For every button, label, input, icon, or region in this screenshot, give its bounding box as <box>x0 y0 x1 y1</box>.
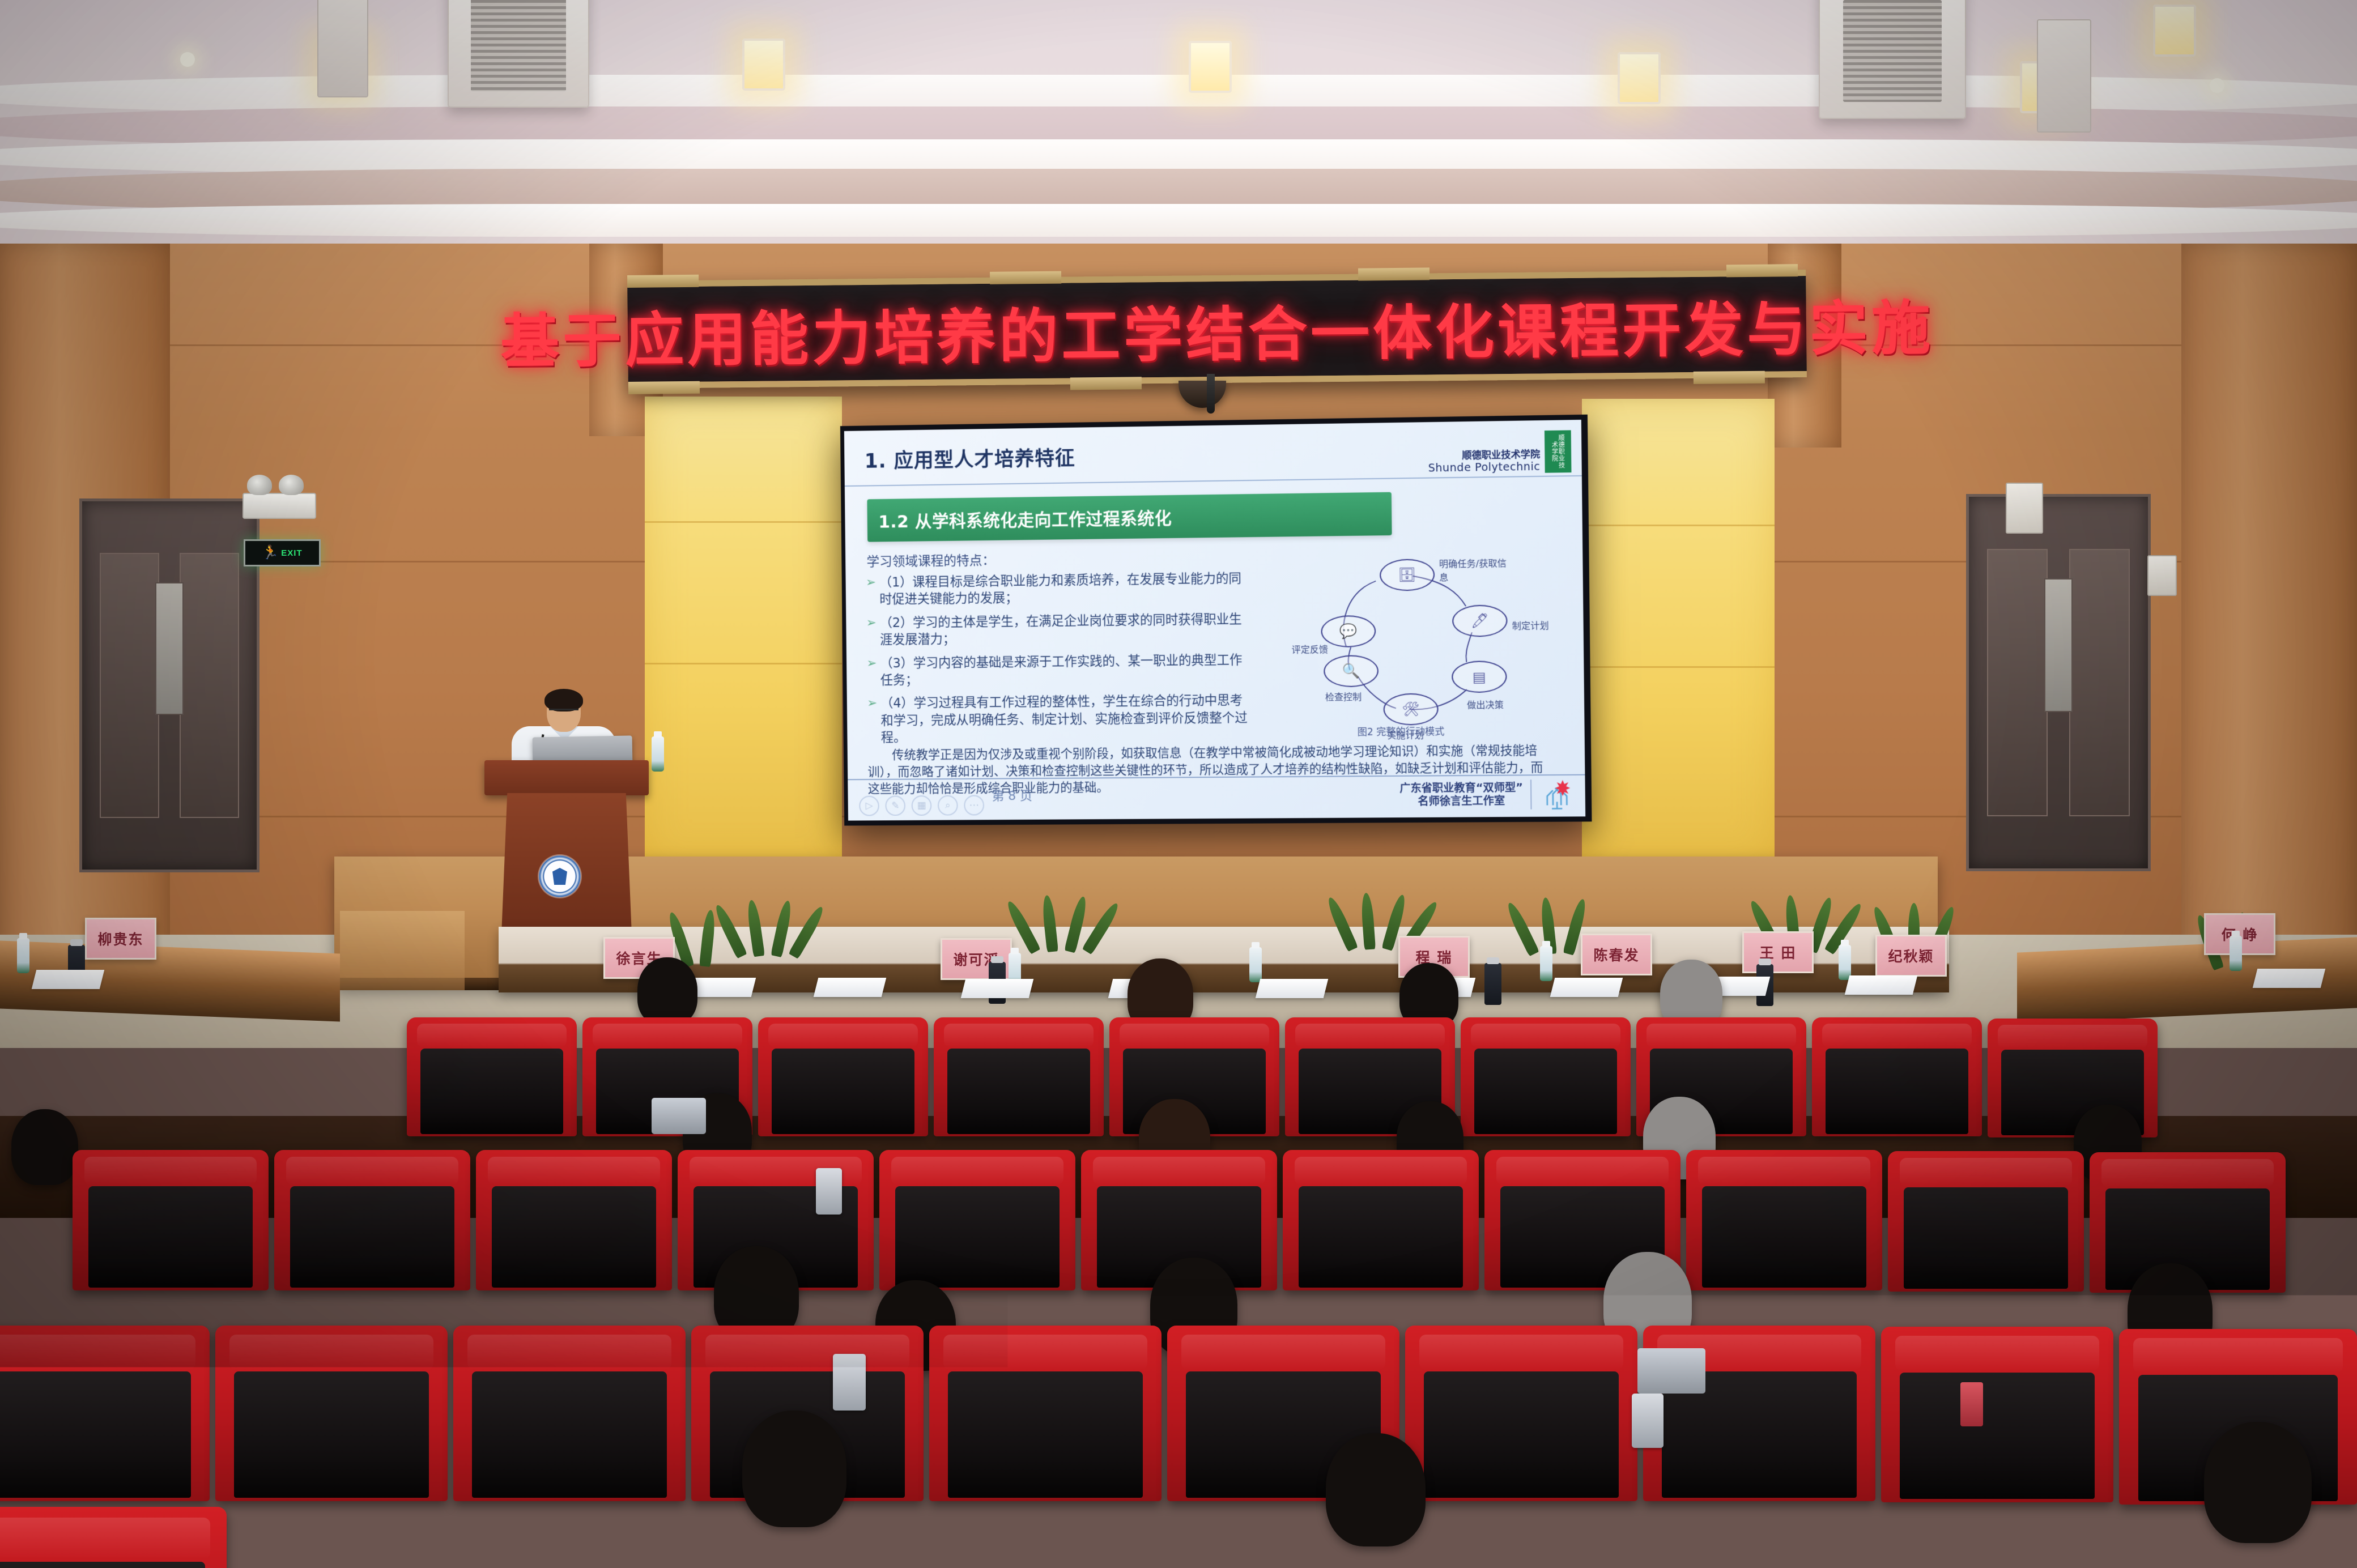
diagram-caption: 图2 完整的行动模式 <box>1358 723 1445 738</box>
auditorium-seat[interactable] <box>1745 1507 2017 1568</box>
ceiling <box>0 0 2357 266</box>
audience-head <box>637 957 697 1025</box>
institution-seal-mark: 顺德职业技术学院 <box>1545 430 1572 472</box>
action-cycle-diagram: 🗄 明确任务/获取信息 🖊 制定计划 ▤ 做出决策 🛠 实施计划 🔍 <box>1321 544 1569 735</box>
slide-header-divider <box>845 475 1582 487</box>
person-at-desk-icon: 🗄 <box>1398 566 1416 584</box>
ceiling-ac-unit <box>1819 0 1966 119</box>
travel-cup <box>1960 1382 1983 1426</box>
door-panel <box>180 553 239 818</box>
auditorium-seat[interactable] <box>510 1507 782 1568</box>
banner-mount-tab <box>1726 264 1798 277</box>
wall-control-box[interactable] <box>2006 483 2043 534</box>
auditorium-seat[interactable] <box>476 1150 672 1290</box>
ceiling-downlight <box>2210 78 2224 93</box>
auditorium-seat[interactable] <box>0 1326 210 1501</box>
bullet-text: （3）学习内容的基础是来源于工作实践的、某一职业的典型工作任务； <box>880 651 1254 689</box>
auditorium-seat[interactable] <box>1283 1150 1479 1290</box>
door-vision-panel <box>155 582 183 715</box>
exit-sign-label: EXIT <box>281 548 302 558</box>
banner-mount-tab <box>1694 371 1765 384</box>
nameplate: 柳贵东 <box>85 918 156 960</box>
bullet-arrow-icon: ➢ <box>866 615 877 649</box>
auditorium-seat[interactable] <box>0 1507 227 1568</box>
auditorium-seat[interactable] <box>407 1017 577 1136</box>
auditorium-seat[interactable] <box>1405 1326 1637 1501</box>
workshop-emblem <box>1539 777 1575 812</box>
wall-socket-plate[interactable] <box>2147 555 2177 596</box>
two-people-discussing-icon: 💬 <box>1339 623 1358 640</box>
auditorium-seat[interactable] <box>232 1507 504 1568</box>
door-vision-panel <box>2044 578 2073 712</box>
nameplate-text: 陈春发 <box>1593 944 1639 965</box>
section-heading-bar: 1.2 从学科系统化走向工作过程系统化 <box>867 492 1392 542</box>
banner-mount-tab <box>628 381 700 394</box>
presentation-slide: 1. 应用型人才培养特征 顺德职业技术学院 Shunde Polytechnic… <box>844 420 1585 821</box>
lectern-top <box>484 760 649 795</box>
speaker-glasses <box>549 709 578 715</box>
wall-pilaster <box>2181 244 2357 980</box>
bullet-text: （4）学习过程具有工作过程的整体性，学生在综合的行动中思考和学习，完成从明确任务… <box>880 692 1255 747</box>
led-banner: 基于应用能力培养的工学结合一体化课程开发与实施 <box>627 270 1807 389</box>
decorative-plant <box>1026 889 1111 952</box>
bullet-text: （2）学习的主体是学生，在满足企业岗位要求的同时获得职业生涯发展潜力； <box>880 611 1254 649</box>
person-working-icon: 🛠 <box>1402 701 1420 718</box>
door-panel <box>1987 549 2048 816</box>
zoom-icon[interactable]: ⌕ <box>938 795 958 816</box>
slide-page-number: 第 8 页 <box>992 786 1032 804</box>
footer-logo-divider <box>1530 779 1532 809</box>
hanging-microphone <box>1207 374 1215 414</box>
auditorium-seat[interactable] <box>788 1507 1060 1568</box>
recessed-ceiling-light <box>2153 5 2196 57</box>
person-at-whiteboard-icon: 🖊 <box>1471 612 1489 630</box>
footer-logo-line1: 广东省职业教育“双师型” <box>1399 782 1523 795</box>
bullet-item: ➢ （3）学习内容的基础是来源于工作实践的、某一职业的典型工作任务； <box>866 651 1254 689</box>
cycle-label-make-plan: 制定计划 <box>1512 618 1549 632</box>
water-bottle <box>652 736 664 772</box>
auditorium-seat[interactable] <box>215 1326 448 1501</box>
auditorium-seat[interactable] <box>879 1150 1075 1290</box>
ceiling-band-white-3 <box>0 204 2357 237</box>
pen-icon[interactable]: ✎ <box>885 795 905 816</box>
auditorium-seat[interactable] <box>1190 1507 1462 1568</box>
projection-screen: 1. 应用型人才培养特征 顺德职业技术学院 Shunde Polytechnic… <box>840 415 1592 826</box>
institution-name-cn: 顺德职业技术学院 <box>1428 449 1540 462</box>
nameplate-text: 柳贵东 <box>97 928 143 949</box>
audience-phone[interactable] <box>833 1354 866 1411</box>
bullet-arrow-icon: ➢ <box>866 655 877 689</box>
university-emblem <box>539 855 581 897</box>
hall-door-left[interactable] <box>79 498 259 872</box>
bullet-item: ➢ （4）学习过程具有工作过程的整体性，学生在综合的行动中思考和学习，完成从明确… <box>867 692 1255 747</box>
ceiling-downlight <box>180 52 195 67</box>
slide-lead-in: 学习领域课程的特点： <box>866 549 995 570</box>
recessed-ceiling-light <box>742 39 785 91</box>
bullet-list: ➢ （1）课程目标是综合职业能力和素质培养，在发展专业能力的同时促进关键能力的发… <box>866 570 1256 753</box>
institution-logo: 顺德职业技术学院 Shunde Polytechnic 顺德职业技术学院 <box>1428 430 1571 474</box>
bullet-arrow-icon: ➢ <box>866 574 877 608</box>
auditorium-seat[interactable] <box>758 1017 928 1136</box>
cycle-label-inspect: 检查控制 <box>1325 689 1362 704</box>
door-panel <box>100 553 159 818</box>
auditorium-seat[interactable] <box>934 1017 1104 1136</box>
auditorium-seat[interactable] <box>1467 1507 1739 1568</box>
auditorium-seat[interactable] <box>1881 1327 2113 1502</box>
speaker-hair <box>544 689 583 711</box>
audience-phone[interactable] <box>1632 1394 1663 1448</box>
auditorium-seat[interactable] <box>1888 1151 2084 1292</box>
bullet-item: ➢ （2）学习的主体是学生，在满足企业岗位要求的同时获得职业生涯发展潜力； <box>866 611 1254 649</box>
conference-hall-photo: 🏃 EXIT 基于应用能力培养的工学结合一体化课程开发与实施 1. 应用型人才培… <box>0 0 2357 1568</box>
auditorium-seat[interactable] <box>929 1326 1162 1501</box>
bullet-arrow-icon: ➢ <box>867 695 878 746</box>
org-chart-icon: ▤ <box>1473 668 1486 685</box>
audience-seating <box>0 963 2357 1568</box>
auditorium-seat[interactable] <box>73 1150 269 1290</box>
panel-seam <box>1582 525 1775 526</box>
auditorium-seat[interactable] <box>1461 1017 1631 1136</box>
auditorium-seat[interactable] <box>1686 1150 1882 1290</box>
banner-mount-tab <box>990 271 1061 284</box>
panel-seam <box>645 663 842 664</box>
banner-mount-tab <box>1070 377 1142 390</box>
recessed-ceiling-light <box>1189 41 1232 93</box>
auditorium-seat[interactable] <box>274 1150 470 1290</box>
auditorium-seat[interactable] <box>2023 1509 2295 1568</box>
cycle-label-decide: 做出决策 <box>1467 697 1504 711</box>
exit-sign: 🏃 EXIT <box>244 539 321 566</box>
door-panel <box>2069 549 2130 816</box>
led-banner-screen: 基于应用能力培养的工学结合一体化课程开发与实施 <box>627 270 1807 389</box>
banner-mount-tab <box>627 275 699 288</box>
audience-tablet[interactable] <box>652 1098 706 1134</box>
auditorium-seat[interactable] <box>453 1326 686 1501</box>
emergency-light <box>242 493 316 519</box>
banner-mount-tab <box>1358 267 1429 280</box>
institution-name-en: Shunde Polytechnic <box>1428 460 1541 474</box>
wall-lit-panel-left <box>645 397 842 867</box>
person-inspecting-icon: 🔍 <box>1342 663 1360 680</box>
ceiling-air-diffuser <box>2037 19 2091 133</box>
panel-seam <box>1582 666 1775 668</box>
audience-phone[interactable] <box>816 1168 842 1215</box>
ceiling-ac-unit <box>448 0 589 108</box>
workshop-footer-logo: 广东省职业教育“双师型” 名师徐言生工作室 <box>1399 777 1575 813</box>
audience-head <box>11 1109 78 1185</box>
led-banner-text: 基于应用能力培养的工学结合一体化课程开发与实施 <box>500 279 1934 378</box>
section-heading-text: 1.2 从学科系统化走向工作过程系统化 <box>867 504 1172 533</box>
cycle-label-define-task: 明确任务/获取信息 <box>1439 556 1507 584</box>
slide-title: 1. 应用型人才培养特征 <box>864 442 1075 474</box>
slides-grid-icon[interactable]: ▦ <box>912 795 932 816</box>
panel-seam <box>645 521 842 523</box>
presenter-toolbar[interactable]: ▷ ✎ ▦ ⌕ ⋯ <box>859 795 984 816</box>
running-man-icon: 🏃 <box>262 546 279 560</box>
decorative-plant <box>680 904 765 966</box>
footer-logo-line2: 名师徐言生工作室 <box>1400 795 1524 808</box>
audience-tablet[interactable] <box>1637 1348 1705 1394</box>
wall-lit-panel-right <box>1582 399 1775 867</box>
cycle-label-feedback: 评定反馈 <box>1292 642 1329 656</box>
ceiling-air-diffuser <box>317 0 368 97</box>
pointer-icon[interactable]: ▷ <box>859 796 879 816</box>
auditorium-seat[interactable] <box>1812 1017 1982 1136</box>
more-options-icon[interactable]: ⋯ <box>964 795 984 816</box>
hall-door-right[interactable] <box>1966 494 2151 871</box>
bullet-item: ➢ （1）课程目标是综合职业能力和素质培养，在发展专业能力的同时促进关键能力的发… <box>866 570 1254 608</box>
bullet-text: （1）课程目标是综合职业能力和素质培养，在发展专业能力的同时促进关键能力的发展； <box>879 570 1254 608</box>
recessed-ceiling-light <box>1618 52 1661 104</box>
